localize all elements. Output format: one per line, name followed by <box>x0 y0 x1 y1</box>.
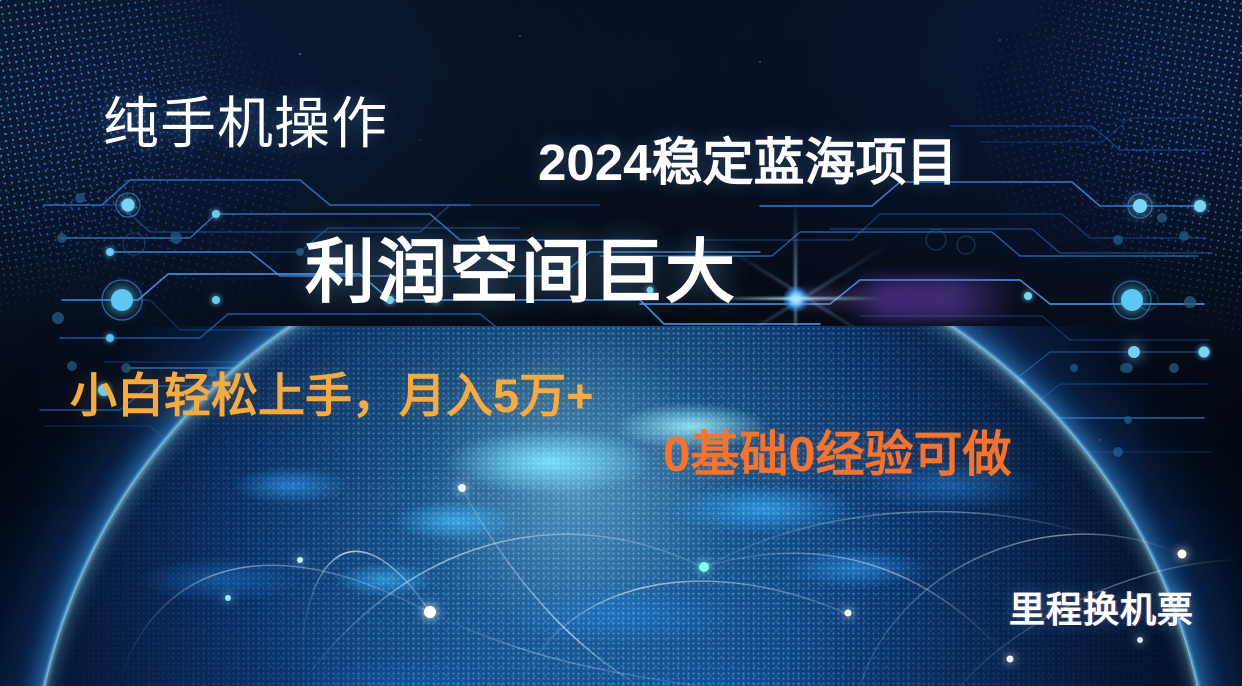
promo-banner: 纯手机操作 2024稳定蓝海项目 利润空间巨大 小白轻松上手，月入5万+ 0基础… <box>0 0 1242 686</box>
headline-year-project: 2024稳定蓝海项目 <box>538 137 957 188</box>
headline-zero-basis: 0基础0经验可做 <box>663 431 1012 480</box>
headline-pure-mobile: 纯手机操作 <box>103 96 388 152</box>
dot-wave-mesh-icon <box>0 0 355 352</box>
headline-miles-ticket: 里程换机票 <box>1009 592 1194 628</box>
headline-profit-space: 利润空间巨大 <box>305 237 737 307</box>
headline-easy-income: 小白轻松上手，月入5万+ <box>70 372 594 419</box>
dot-wave-mesh-icon <box>936 0 1242 291</box>
